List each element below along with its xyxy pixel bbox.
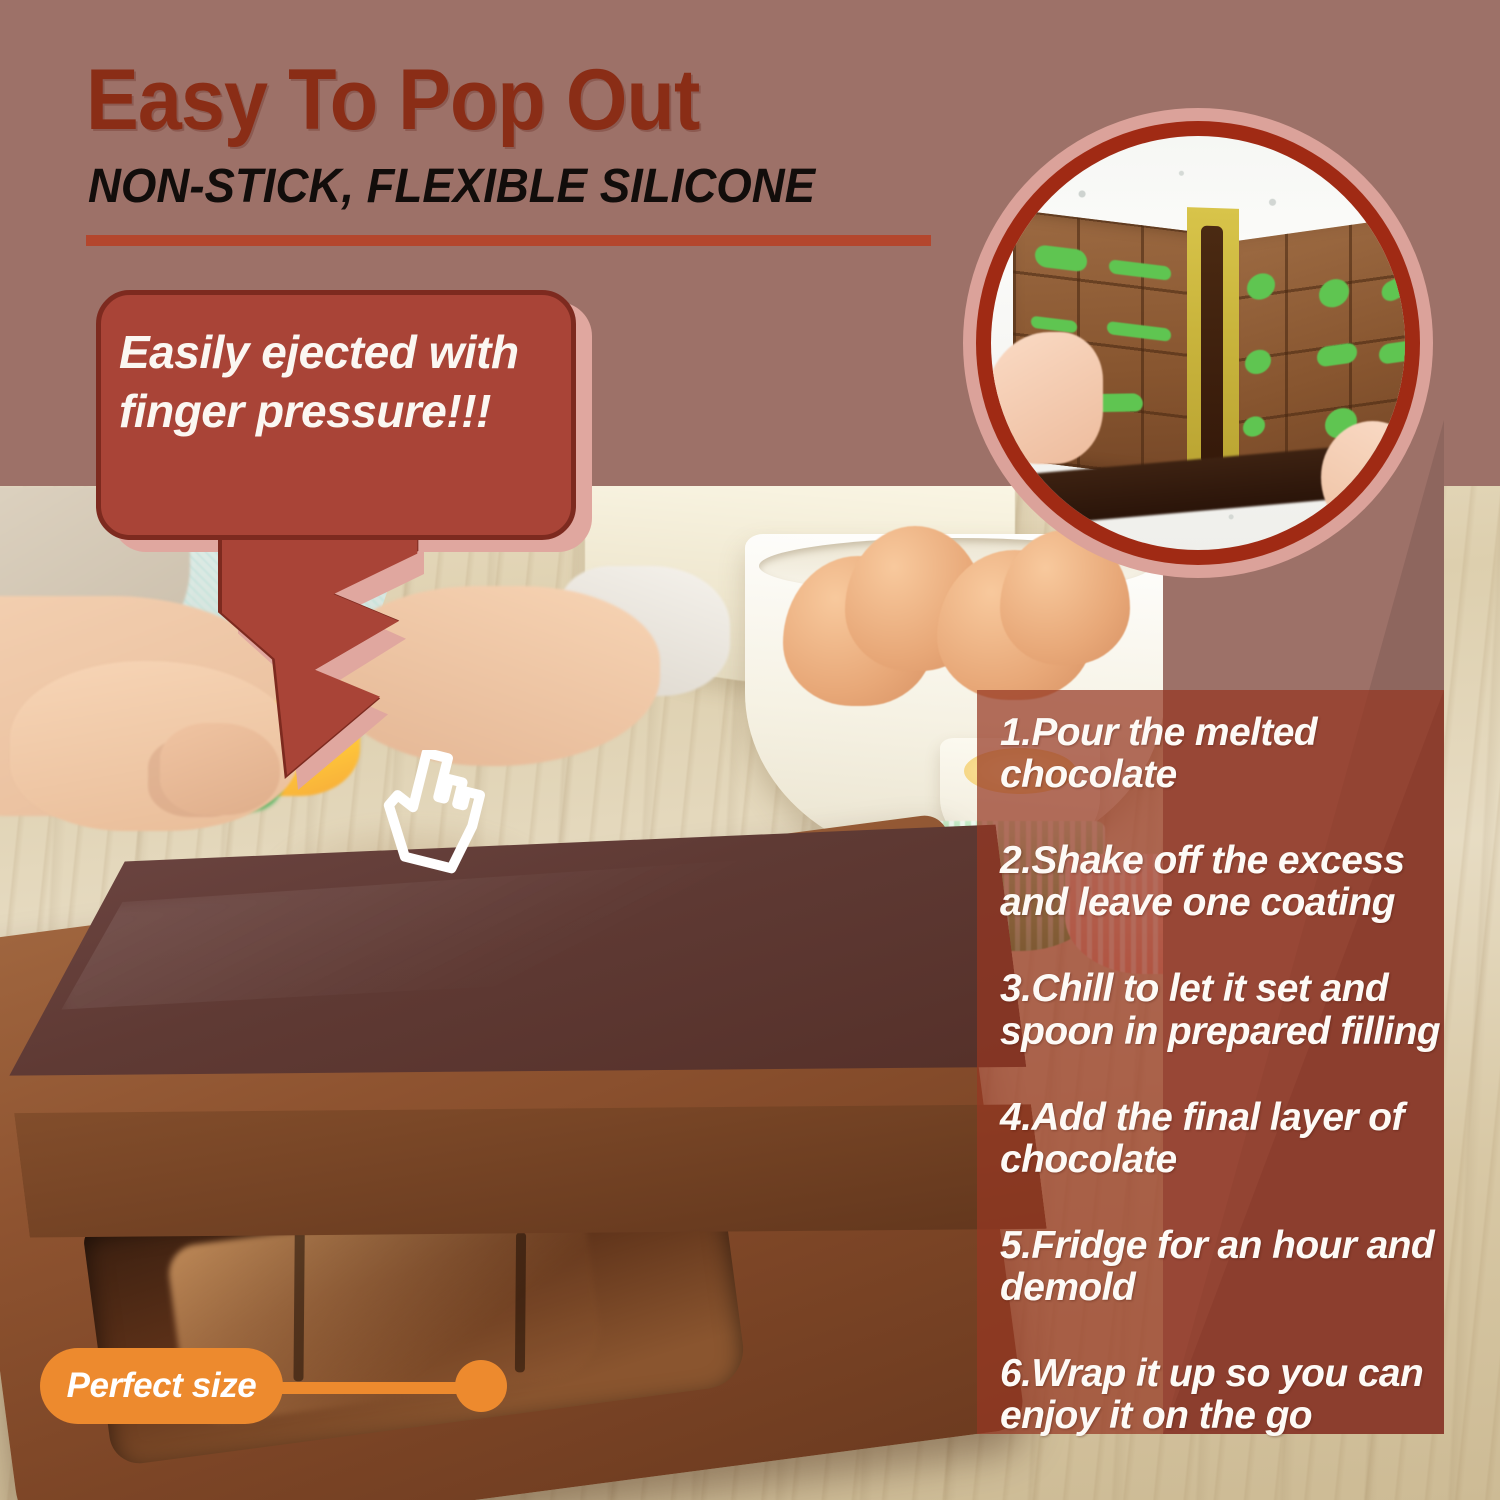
instruction-step: 6.Wrap it up so you can enjoy it on the … bbox=[1000, 1353, 1460, 1437]
badge-connector-dot bbox=[455, 1360, 507, 1412]
closeup-inset bbox=[963, 108, 1433, 578]
inset-photo bbox=[991, 136, 1405, 550]
page-subtitle: NON-STICK, FLEXIBLE SILICONE bbox=[88, 163, 815, 211]
page-title: Easy To Pop Out bbox=[86, 60, 699, 142]
pointing-down-hand-icon bbox=[378, 750, 486, 878]
thumb-left bbox=[991, 332, 1103, 464]
callout-text: Easily ejected with finger pressure!!! bbox=[119, 323, 557, 441]
instruction-step: 2.Shake off the excess and leave one coa… bbox=[1000, 840, 1460, 924]
instruction-step: 5.Fridge for an hour and demold bbox=[1000, 1225, 1460, 1309]
instruction-step: 3.Chill to let it set and spoon in prepa… bbox=[1000, 968, 1460, 1052]
instruction-steps-list: 1.Pour the melted chocolate 2.Shake off … bbox=[1000, 712, 1460, 1481]
perfect-size-badge: Perfect size bbox=[40, 1348, 283, 1424]
badge-connector-line bbox=[250, 1382, 475, 1394]
instruction-step: 1.Pour the melted chocolate bbox=[1000, 712, 1460, 796]
callout-bubble: Easily ejected with finger pressure!!! bbox=[96, 290, 576, 540]
badge-label: Perfect size bbox=[67, 1366, 257, 1406]
product-feature-image: Easy To Pop Out NON-STICK, FLEXIBLE SILI… bbox=[0, 0, 1500, 1500]
instruction-step: 4.Add the final layer of chocolate bbox=[1000, 1097, 1460, 1181]
pistachio-filling-layer bbox=[1187, 207, 1239, 487]
child-hand-left bbox=[10, 661, 300, 831]
header-divider bbox=[86, 235, 931, 246]
